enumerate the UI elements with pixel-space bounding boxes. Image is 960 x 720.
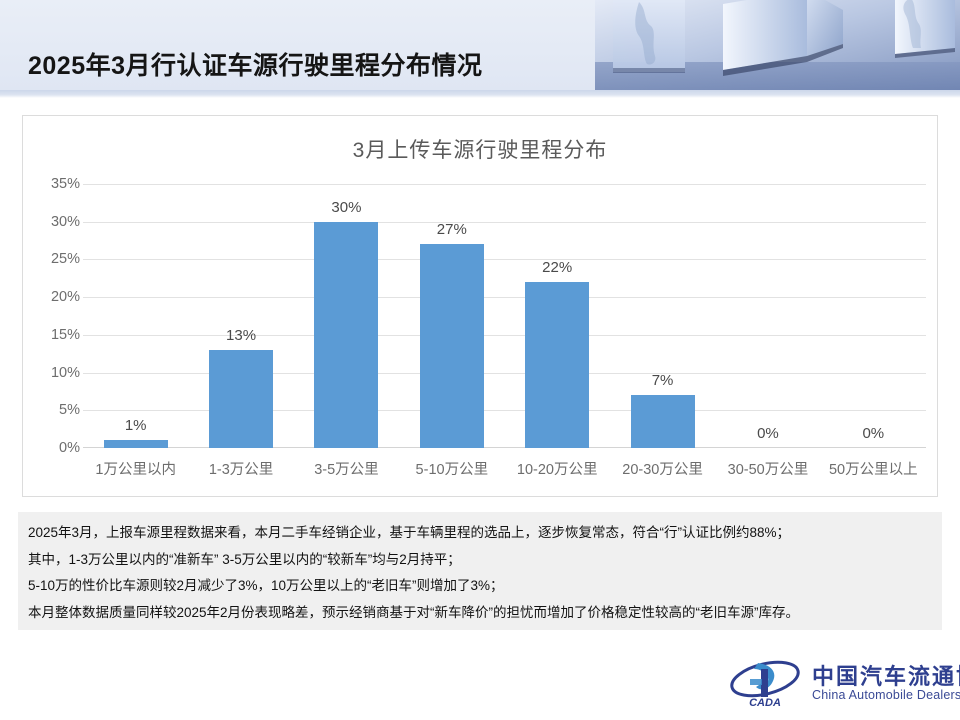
bar[interactable] [631, 395, 695, 448]
x-axis-tick: 3-5万公里 [314, 458, 378, 479]
bar-group: 22%10-20万公里 [505, 184, 610, 448]
header-divider [0, 90, 960, 98]
x-axis-tick: 20-30万公里 [622, 458, 703, 479]
bar-value-label: 27% [437, 221, 467, 238]
note-line: 其中，1-3万公里以内的“准新车” 3-5万公里以内的“较新车”均与2月持平； [28, 547, 932, 574]
slide-root: 2025年3月行认证车源行驶里程分布情况 3月上传车源行驶里程分布 35% 30… [0, 0, 960, 720]
bar-value-label: 7% [652, 372, 674, 389]
bar-group: 7%20-30万公里 [610, 184, 715, 448]
bar-group: 1%1万公里以内 [83, 184, 188, 448]
chart-title: 3月上传车源行驶里程分布 [23, 134, 937, 164]
blue-cubes-icon [595, 0, 960, 90]
bar-group: 0%30-50万公里 [715, 184, 820, 448]
bar-value-label: 30% [331, 199, 361, 216]
note-line: 5-10万的性价比车源则较2月减少了3%，10万公里以上的“老旧车”则增加了3%… [28, 573, 932, 600]
bar-value-label: 0% [757, 425, 779, 442]
bar-group: 13%1-3万公里 [188, 184, 293, 448]
bar[interactable] [314, 222, 378, 448]
bar-group: 30%3-5万公里 [294, 184, 399, 448]
bar[interactable] [525, 282, 589, 448]
header-banner-image [595, 0, 960, 90]
logo-name-en: China Automobile Dealers Association [812, 688, 960, 702]
cada-logo-icon: CADA [728, 657, 802, 709]
x-axis-tick: 30-50万公里 [728, 458, 809, 479]
chart-plot-area: 35% 30% 25% 20% 15% 10% 5% 0% 1%1万公里以内13… [83, 184, 926, 448]
x-axis-tick: 50万公里以上 [829, 458, 918, 479]
bar-group: 27%5-10万公里 [399, 184, 504, 448]
note-line: 2025年3月，上报车源里程数据来看，本月二手车经销企业，基于车辆里程的选品上，… [28, 520, 932, 547]
bar-value-label: 0% [862, 425, 884, 442]
y-axis-tick: 0% [20, 440, 80, 456]
bar-value-label: 22% [542, 259, 572, 276]
x-axis-tick: 10-20万公里 [517, 458, 598, 479]
note-line: 本月整体数据质量同样较2025年2月份表现略差，预示经销商基于对“新车降价”的担… [28, 600, 932, 627]
x-axis-tick: 5-10万公里 [416, 458, 489, 479]
analysis-note-box: 2025年3月，上报车源里程数据来看，本月二手车经销企业，基于车辆里程的选品上，… [18, 512, 942, 630]
bar-value-label: 13% [226, 327, 256, 344]
organization-logo: CADA 中国汽车流通协会 China Automobile Dealers A… [728, 655, 944, 713]
y-axis-tick: 5% [20, 402, 80, 418]
chart-panel: 3月上传车源行驶里程分布 35% 30% 25% 20% 15% 10% 5% … [22, 115, 938, 497]
y-axis-tick: 25% [20, 251, 80, 267]
y-axis-tick: 20% [20, 289, 80, 305]
y-axis-tick: 10% [20, 365, 80, 381]
slide-header: 2025年3月行认证车源行驶里程分布情况 [0, 0, 960, 90]
y-axis-tick: 30% [20, 214, 80, 230]
logo-name-cn: 中国汽车流通协会 [812, 659, 960, 691]
x-axis-tick: 1-3万公里 [209, 458, 273, 479]
bar-series: 1%1万公里以内13%1-3万公里30%3-5万公里27%5-10万公里22%1… [83, 184, 926, 448]
bar[interactable] [104, 440, 168, 448]
y-axis-tick: 15% [20, 327, 80, 343]
bar[interactable] [209, 350, 273, 448]
cada-mark-text: CADA [749, 697, 781, 709]
y-axis-tick: 35% [20, 176, 80, 192]
page-title: 2025年3月行认证车源行驶里程分布情况 [28, 46, 483, 82]
bar[interactable] [420, 244, 484, 448]
bar-group: 0%50万公里以上 [821, 184, 926, 448]
x-axis-tick: 1万公里以内 [95, 458, 176, 479]
bar-value-label: 1% [125, 417, 147, 434]
